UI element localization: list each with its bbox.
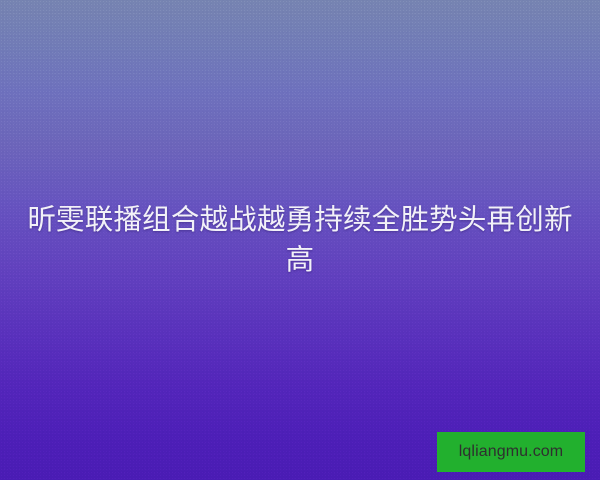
- headline-block: 昕雯联播组合越战越勇持续全胜势头再创新高: [0, 0, 600, 480]
- watermark-badge[interactable]: lqliangmu.com: [437, 432, 585, 472]
- article-cover-card: 昕雯联播组合越战越勇持续全胜势头再创新高 lqliangmu.com: [0, 0, 600, 480]
- cover-headline: 昕雯联播组合越战越勇持续全胜势头再创新高: [26, 200, 574, 280]
- watermark-site-label: lqliangmu.com: [459, 443, 563, 461]
